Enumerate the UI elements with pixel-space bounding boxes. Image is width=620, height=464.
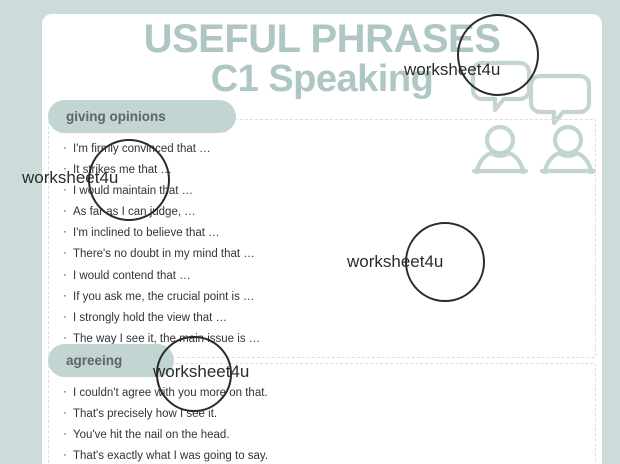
list-item: If you ask me, the crucial point is …	[63, 292, 585, 304]
list-item: I strongly hold the view that …	[63, 313, 585, 325]
title-line-secondary: C1 Speaking	[42, 61, 602, 98]
list-item: I would maintain that …	[63, 186, 585, 198]
list-item: I would contend that …	[63, 271, 585, 283]
list-item: There's no doubt in my mind that …	[63, 249, 585, 261]
title-line-primary: USEFUL PHRASES	[42, 20, 602, 59]
section-giving-opinions: giving opinions I'm firmly convinced tha…	[48, 100, 596, 358]
section-label-giving-opinions: giving opinions	[48, 100, 236, 133]
list-item: You've hit the nail on the head.	[63, 430, 585, 442]
page-title: USEFUL PHRASES C1 Speaking	[42, 20, 602, 98]
section-agreeing: agreeing I couldn't agree with you more …	[48, 344, 596, 464]
list-item: It strikes me that …	[63, 165, 585, 177]
list-item: That's precisely how I see it.	[63, 409, 585, 421]
phrase-list-giving-opinions: I'm firmly convinced that … It strikes m…	[63, 144, 585, 345]
list-item: I couldn't agree with you more on that.	[63, 388, 585, 400]
list-item: That's exactly what I was going to say.	[63, 451, 585, 463]
section-body-giving-opinions: I'm firmly convinced that … It strikes m…	[48, 119, 596, 358]
list-item: As far as I can judge, …	[63, 207, 585, 219]
section-body-agreeing: I couldn't agree with you more on that. …	[48, 363, 596, 464]
phrase-list-agreeing: I couldn't agree with you more on that. …	[63, 388, 585, 463]
list-item: I'm firmly convinced that …	[63, 144, 585, 156]
worksheet-card: USEFUL PHRASES C1 Speaking giving opinio…	[42, 14, 602, 464]
section-label-agreeing: agreeing	[48, 344, 174, 377]
list-item: I'm inclined to believe that …	[63, 228, 585, 240]
